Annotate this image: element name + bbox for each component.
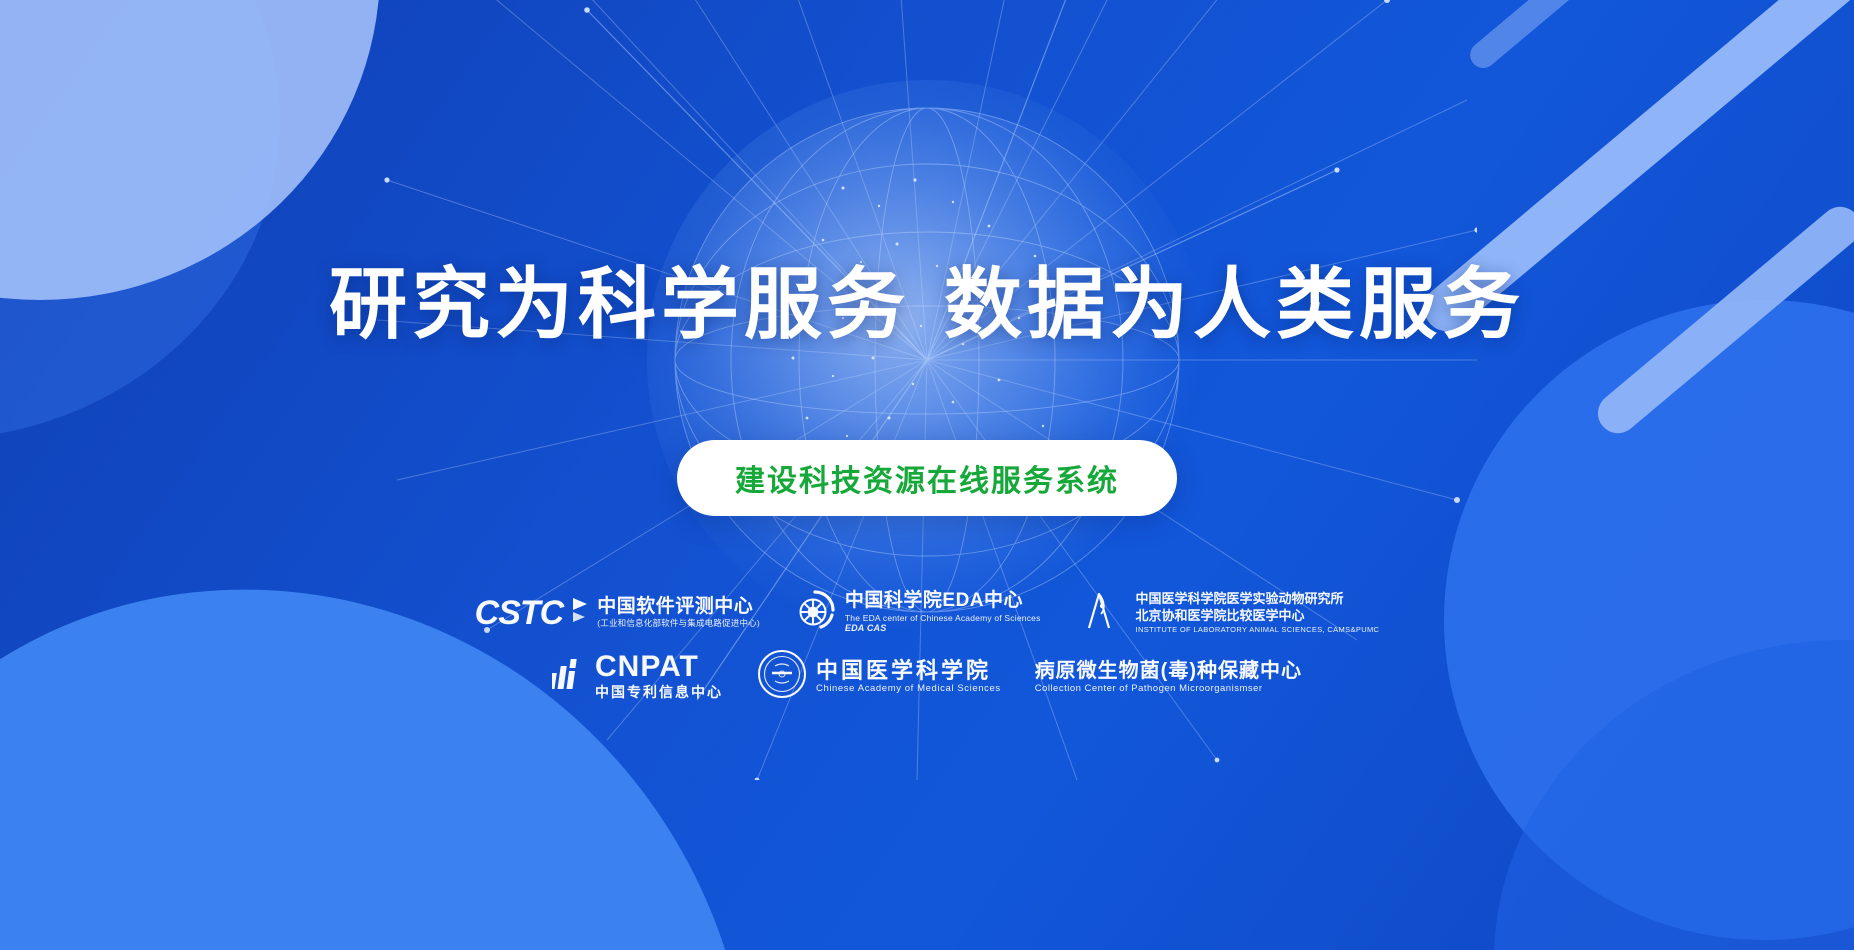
- banner-content: 研究为科学服务数据为人类服务 建设科技资源在线服务系统 CSTC 中国软件评测中…: [0, 0, 1854, 950]
- logo-ccpm[interactable]: 病原微生物菌(毒)种保藏中心 Collection Center of Path…: [1035, 659, 1302, 695]
- ilas-logo-icon: [1075, 588, 1127, 637]
- logo-ilas[interactable]: 中国医学科学院医学实验动物研究所 北京协和医学院比较医学中心 INSTITUTE…: [1075, 588, 1380, 637]
- cams-cn-name: 中国医学科学院: [816, 658, 1001, 683]
- cams-seal-icon: [757, 649, 807, 704]
- cams-text: 中国医学科学院 Chinese Academy of Medical Scien…: [816, 658, 1001, 695]
- ccpm-text: 病原微生物菌(毒)种保藏中心 Collection Center of Path…: [1035, 659, 1302, 695]
- cstc-wordmark: CSTC: [475, 596, 564, 630]
- logo-cams[interactable]: 中国医学科学院 Chinese Academy of Medical Scien…: [757, 649, 1001, 704]
- partner-logo-row-2: CNPAT 中国专利信息中心: [552, 649, 1302, 704]
- headline-left: 研究为科学服务: [329, 260, 910, 348]
- headline-right: 数据为人类服务: [944, 260, 1525, 348]
- cstc-text: 中国软件评测中心 (工业和信息化部软件与集成电路促进中心): [597, 596, 760, 629]
- ilas-sub: INSTITUTE OF LABORATORY ANIMAL SCIENCES,…: [1136, 625, 1380, 634]
- eda-cas-cn-name: 中国科学院EDA中心: [845, 590, 1041, 612]
- ilas-cn-line1: 中国医学科学院医学实验动物研究所: [1136, 591, 1380, 608]
- ilas-cn-line2: 北京协和医学院比较医学中心: [1136, 608, 1380, 625]
- page-title: 研究为科学服务数据为人类服务: [0, 262, 1854, 346]
- ccpm-cn-name: 病原微生物菌(毒)种保藏中心: [1035, 659, 1302, 683]
- logo-cnpat[interactable]: CNPAT 中国专利信息中心: [552, 651, 723, 703]
- eda-cas-abbr: EDA CAS: [845, 623, 1041, 634]
- cstc-sub: (工业和信息化部软件与集成电路促进中心): [597, 618, 760, 629]
- hero-banner: 研究为科学服务数据为人类服务 建设科技资源在线服务系统 CSTC 中国软件评测中…: [0, 0, 1854, 950]
- ilas-text: 中国医学科学院医学实验动物研究所 北京协和医学院比较医学中心 INSTITUTE…: [1136, 591, 1380, 634]
- cstc-logo-icon: [572, 595, 588, 630]
- cams-sub: Chinese Academy of Medical Sciences: [816, 683, 1001, 695]
- eda-cas-logo-icon: [794, 589, 836, 636]
- subtitle-pill[interactable]: 建设科技资源在线服务系统: [677, 440, 1177, 516]
- eda-cas-sub: The EDA center of Chinese Academy of Sci…: [845, 613, 1041, 624]
- cnpat-wordmark: CNPAT: [595, 651, 723, 683]
- cnpat-text: CNPAT 中国专利信息中心: [595, 651, 723, 703]
- cnpat-logo-icon: [552, 657, 586, 696]
- logo-cstc[interactable]: CSTC 中国软件评测中心 (工业和信息化部软件与集成电路促进中心): [475, 595, 760, 630]
- partner-logos: CSTC 中国软件评测中心 (工业和信息化部软件与集成电路促进中心): [0, 588, 1854, 704]
- cnpat-cn-name: 中国专利信息中心: [595, 682, 723, 702]
- partner-logo-row-1: CSTC 中国软件评测中心 (工业和信息化部软件与集成电路促进中心): [475, 588, 1380, 637]
- ccpm-sub: Collection Center of Pathogen Microorgan…: [1035, 683, 1302, 695]
- eda-cas-text: 中国科学院EDA中心 The EDA center of Chinese Aca…: [845, 590, 1041, 634]
- cstc-cn-name: 中国软件评测中心: [597, 596, 760, 618]
- logo-eda-cas[interactable]: 中国科学院EDA中心 The EDA center of Chinese Aca…: [794, 589, 1041, 636]
